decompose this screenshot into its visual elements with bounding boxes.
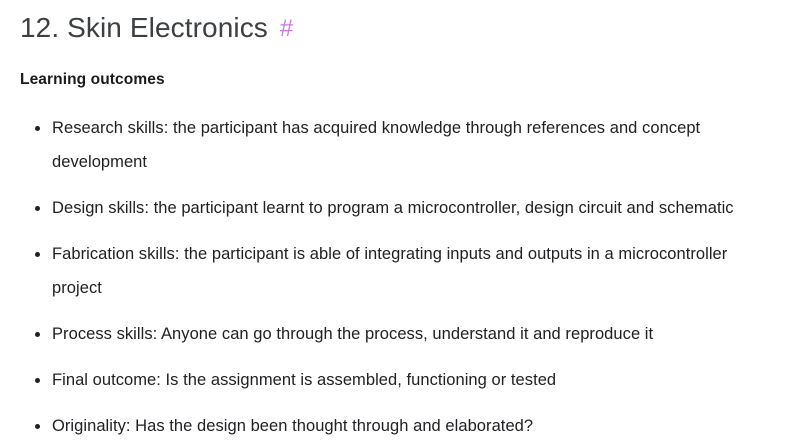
list-item: Process skills: Anyone can go through th… — [0, 317, 790, 351]
list-item: Originality: Has the design been thought… — [0, 409, 790, 443]
bullet-icon — [35, 237, 41, 271]
list-item: Design skills: the participant learnt to… — [0, 191, 790, 225]
learning-outcomes-list: Research skills: the participant has acq… — [0, 111, 790, 443]
document-page: 12. Skin Electronics# Learning outcomes … — [0, 0, 800, 441]
list-item: Research skills: the participant has acq… — [0, 111, 790, 179]
list-item-text: Final outcome: Is the assignment is asse… — [52, 363, 770, 397]
anchor-link-icon[interactable]: # — [280, 15, 293, 42]
page-title: 12. Skin Electronics# — [20, 9, 293, 48]
list-item-text: Process skills: Anyone can go through th… — [52, 317, 770, 351]
bullet-icon — [35, 409, 41, 443]
list-item-text: Fabrication skills: the participant is a… — [52, 237, 770, 305]
list-item: Final outcome: Is the assignment is asse… — [0, 363, 790, 397]
list-item-text: Research skills: the participant has acq… — [52, 111, 770, 179]
list-item-text: Originality: Has the design been thought… — [52, 409, 770, 443]
bullet-icon — [35, 111, 41, 145]
list-item-text: Design skills: the participant learnt to… — [52, 191, 770, 225]
learning-outcomes-subheading: Learning outcomes — [20, 69, 165, 91]
page-title-text: 12. Skin Electronics — [20, 12, 268, 43]
bullet-icon — [35, 363, 41, 397]
bullet-icon — [35, 191, 41, 225]
list-item: Fabrication skills: the participant is a… — [0, 237, 790, 305]
bullet-icon — [35, 317, 41, 351]
